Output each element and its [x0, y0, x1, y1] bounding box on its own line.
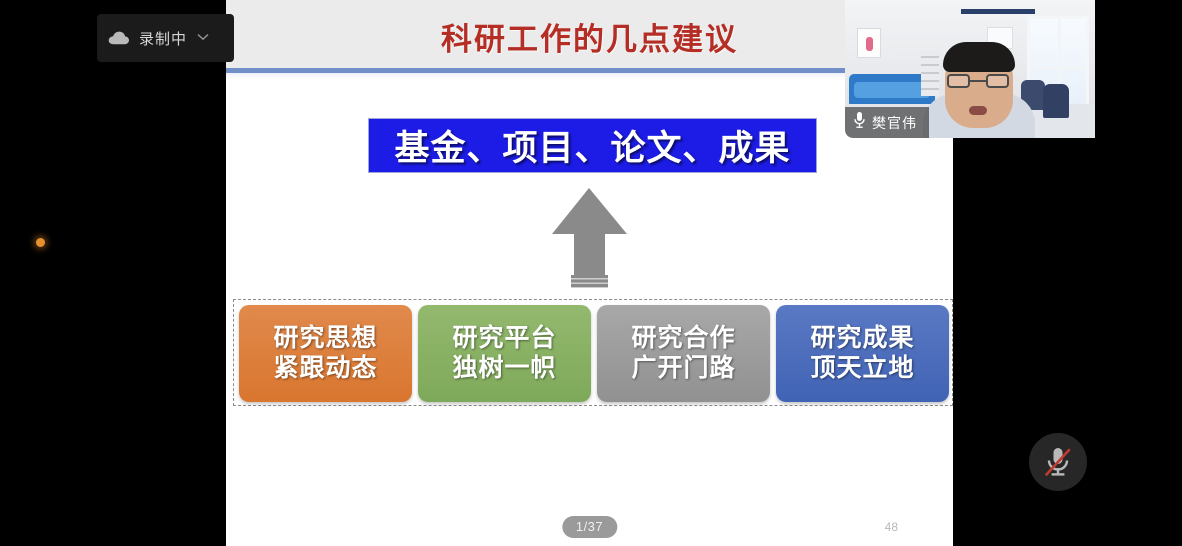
microphone-muted-icon [1043, 445, 1073, 479]
recording-indicator[interactable]: 录制中 [97, 14, 234, 62]
cloud-icon [108, 31, 130, 45]
slide-header-rule-shadow [226, 73, 953, 79]
video-wall-art [857, 28, 881, 58]
pillar-box-line2: 顶天立地 [810, 354, 914, 384]
slide-page-number: 48 [885, 520, 898, 534]
chevron-down-icon[interactable] [197, 32, 209, 44]
microphone-muted-button[interactable] [1029, 433, 1087, 491]
pillar-box-line1: 研究平台 [452, 324, 556, 354]
video-person-glasses [947, 74, 970, 88]
pillar-box-line1: 研究成果 [810, 324, 914, 354]
page-indicator[interactable]: 1/37 [562, 516, 617, 538]
participant-name: 樊官伟 [872, 113, 917, 133]
up-arrow-shaft [574, 234, 605, 275]
up-arrow-icon [552, 188, 627, 288]
pillar-box-line2: 广开门路 [631, 354, 735, 384]
slide-banner: 基金、项目、论文、成果 [368, 118, 817, 173]
pillar-box-group: 研究思想 紧跟动态 研究平台 独树一帜 研究合作 广开门路 研究成果 顶天立地 [233, 299, 953, 406]
microphone-icon [853, 111, 866, 134]
video-person-glasses [986, 74, 1009, 88]
slide-banner-text: 基金、项目、论文、成果 [394, 120, 790, 171]
video-person-hair [943, 42, 1015, 72]
video-person-mouth [969, 106, 987, 115]
pillar-box-line2: 独树一帜 [452, 354, 556, 384]
meeting-screen: 科研工作的几点建议 基金、项目、论文、成果 研究思想 紧跟动态 研究平台 独树一… [0, 0, 1182, 546]
up-arrow-base [571, 275, 608, 288]
recording-label: 录制中 [139, 28, 187, 49]
shared-slide[interactable]: 科研工作的几点建议 基金、项目、论文、成果 研究思想 紧跟动态 研究平台 独树一… [226, 0, 953, 546]
video-person-glasses-bridge [970, 80, 986, 82]
pillar-box: 研究平台 独树一帜 [418, 305, 591, 402]
pillar-box: 研究思想 紧跟动态 [239, 305, 412, 402]
activity-indicator-dot [36, 238, 45, 247]
participant-video-tile[interactable]: 樊官伟 [845, 0, 1095, 138]
pillar-box: 研究合作 广开门路 [597, 305, 770, 402]
participant-nametag: 樊官伟 [845, 107, 929, 138]
video-chair [1043, 84, 1069, 118]
pillar-box-line1: 研究思想 [273, 324, 377, 354]
pillar-box-line1: 研究合作 [631, 324, 735, 354]
pillar-box-line2: 紧跟动态 [273, 354, 377, 384]
video-wall-stripe [961, 9, 1035, 14]
pillar-box: 研究成果 顶天立地 [776, 305, 949, 402]
video-shelf [921, 50, 939, 96]
up-arrow-head [552, 188, 627, 234]
slide-title: 科研工作的几点建议 [226, 14, 953, 59]
